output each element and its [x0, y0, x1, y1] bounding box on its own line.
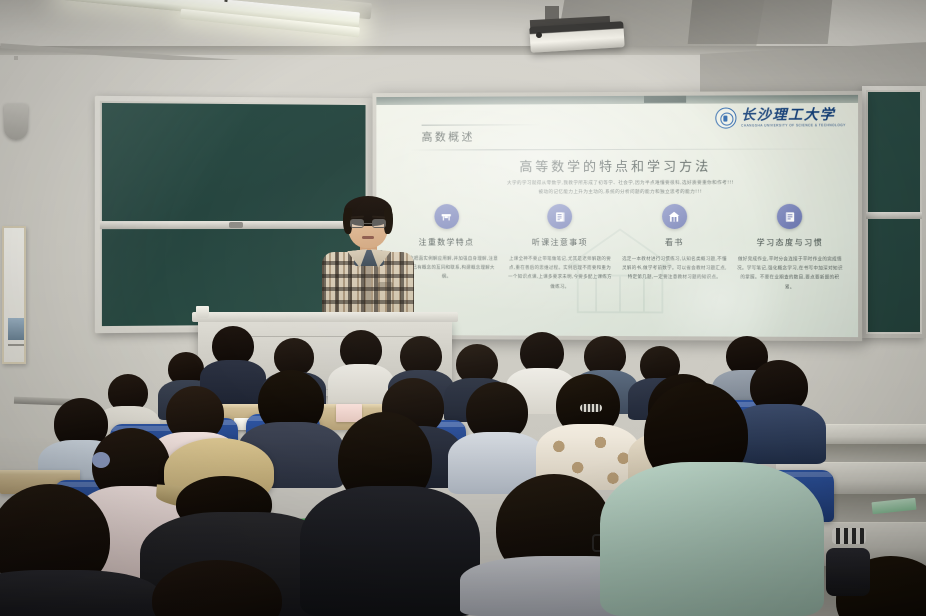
instructor-glasses	[350, 219, 386, 228]
step	[810, 424, 926, 446]
wall-poster	[2, 226, 26, 364]
slide-column-2: 听课注意事项 上课全神不要止带笔做笔记,尤其是老师解题的要点,重在善后的思维过程…	[503, 204, 617, 292]
lecture-hall-photo: 长沙理工大学 CHANGSHA UNIVERSITY OF SCIENCE & …	[0, 0, 926, 616]
chalkboard-handle	[229, 222, 243, 228]
glasses-lens-left	[350, 219, 364, 228]
glasses-lens-right	[372, 219, 386, 228]
university-crest-icon	[715, 107, 736, 128]
kicker-rule-bottom	[410, 148, 840, 150]
instructor-shirt-pocket	[378, 282, 393, 290]
chalkboard-right	[862, 86, 926, 338]
home-icon	[662, 204, 687, 229]
lectern-top	[192, 312, 458, 322]
university-logo-text: 长沙理工大学 CHANGSHA UNIVERSITY OF SCIENCE & …	[741, 108, 846, 128]
instructor-mouth	[362, 236, 374, 239]
slide-subtitle-line-2: 被动的记忆能力上升为主动的,系统的分析问题的能力和独立思考的能力!!!	[408, 188, 836, 197]
poster-image	[8, 318, 24, 340]
column-heading: 学习态度与习惯	[757, 237, 824, 248]
slide-section-label: 高数概述	[422, 128, 475, 144]
slide-column-4: 学习态度与习惯 做好完成作业,平时分会连接于平时作业的完成情况。学写笔记,强化概…	[732, 204, 848, 293]
column-heading: 注重数学特点	[419, 237, 475, 248]
projection-screen: 长沙理工大学 CHANGSHA UNIVERSITY OF SCIENCE & …	[372, 91, 862, 341]
wall-speaker	[4, 104, 28, 140]
slide-canvas: 长沙理工大学 CHANGSHA UNIVERSITY OF SCIENCE & …	[376, 95, 858, 337]
kicker-rule-top	[422, 124, 541, 125]
screen-top-rail-tab	[644, 96, 686, 103]
hair-tie	[580, 404, 602, 412]
presentation-slide: 长沙理工大学 CHANGSHA UNIVERSITY OF SCIENCE & …	[380, 103, 854, 335]
seated-student	[0, 570, 160, 616]
notebook-icon	[777, 204, 802, 229]
slide-column-3: 看书 选定一本教材进行习惯练习,认知名类概习题,不懂灵解的书,做学考前数学。可以…	[617, 204, 732, 292]
desk-edge	[0, 470, 80, 475]
poster-text-line	[8, 344, 24, 346]
seated-student	[300, 486, 480, 616]
ceiling-panel-right	[688, 0, 833, 44]
shoe	[832, 528, 866, 544]
column-body: 上课全神不要止带笔做笔记,尤其是老师解题的要点,重在善后的思维过程。实例后理不而…	[507, 255, 613, 292]
slide-columns: 注重数学特点 准备理念把直实例解应用解,并加强自身理解,注意概念与已有概念的互同…	[390, 204, 848, 293]
glasses-bridge	[364, 223, 372, 224]
instructor	[320, 196, 416, 328]
column-body: 做好完成作业,平时分会连接于平时作业的完成情况。学写笔记,强化概念学习,在书写中…	[736, 255, 844, 292]
backpack	[826, 548, 870, 596]
water-cup	[196, 306, 209, 318]
chalkboard-right-surface	[866, 90, 922, 334]
column-heading: 看书	[665, 237, 684, 248]
university-name-cn: 长沙理工大学	[741, 108, 846, 122]
chalkboard-right-track	[866, 212, 922, 219]
university-name-en: CHANGSHA UNIVERSITY OF SCIENCE & TECHNOL…	[741, 124, 846, 128]
column-body: 选定一本教材进行习惯练习,认知名类概习题,不懂灵解的书,做学考前数学。可以省会教…	[621, 255, 728, 283]
desk-icon	[434, 204, 459, 229]
hair-tie	[92, 452, 110, 468]
slide-subtitle: 大学的学习就得从零数学,我教学所形成了初等学、社会学,因为半点难懂要很科,选好质…	[408, 180, 836, 198]
column-heading: 听课注意事项	[532, 237, 588, 248]
university-logo: 长沙理工大学 CHANGSHA UNIVERSITY OF SCIENCE & …	[715, 107, 846, 129]
slide-title: 高等数学的特点和学习方法	[380, 155, 854, 175]
slide-subtitle-line-1: 大学的学习就得从零数学,我教学所形成了初等学、社会学,因为半点难懂要很科,选好质…	[408, 180, 836, 189]
document-icon	[547, 204, 572, 229]
seated-student	[600, 462, 824, 616]
